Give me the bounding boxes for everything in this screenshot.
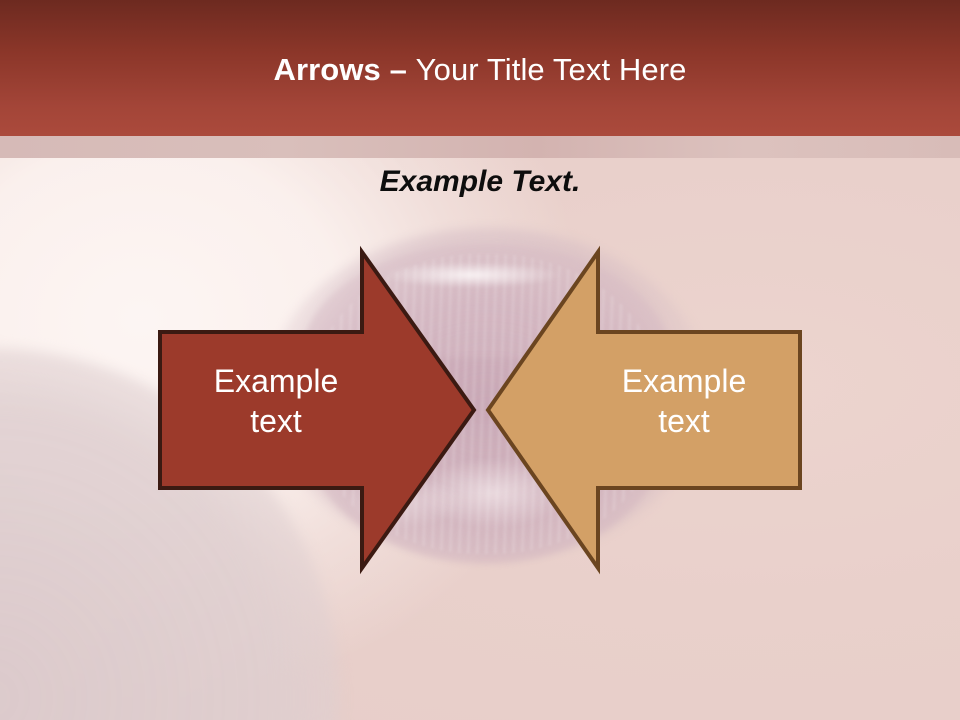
arrow-shapes-svg [0, 0, 960, 720]
slide-canvas: Arrows – Your Title Text Here Example Te… [0, 0, 960, 720]
arrow-diagram: Example text Example text [0, 0, 960, 720]
right-arrow-label: Example text [584, 362, 784, 441]
left-arrow-label: Example text [176, 362, 376, 441]
